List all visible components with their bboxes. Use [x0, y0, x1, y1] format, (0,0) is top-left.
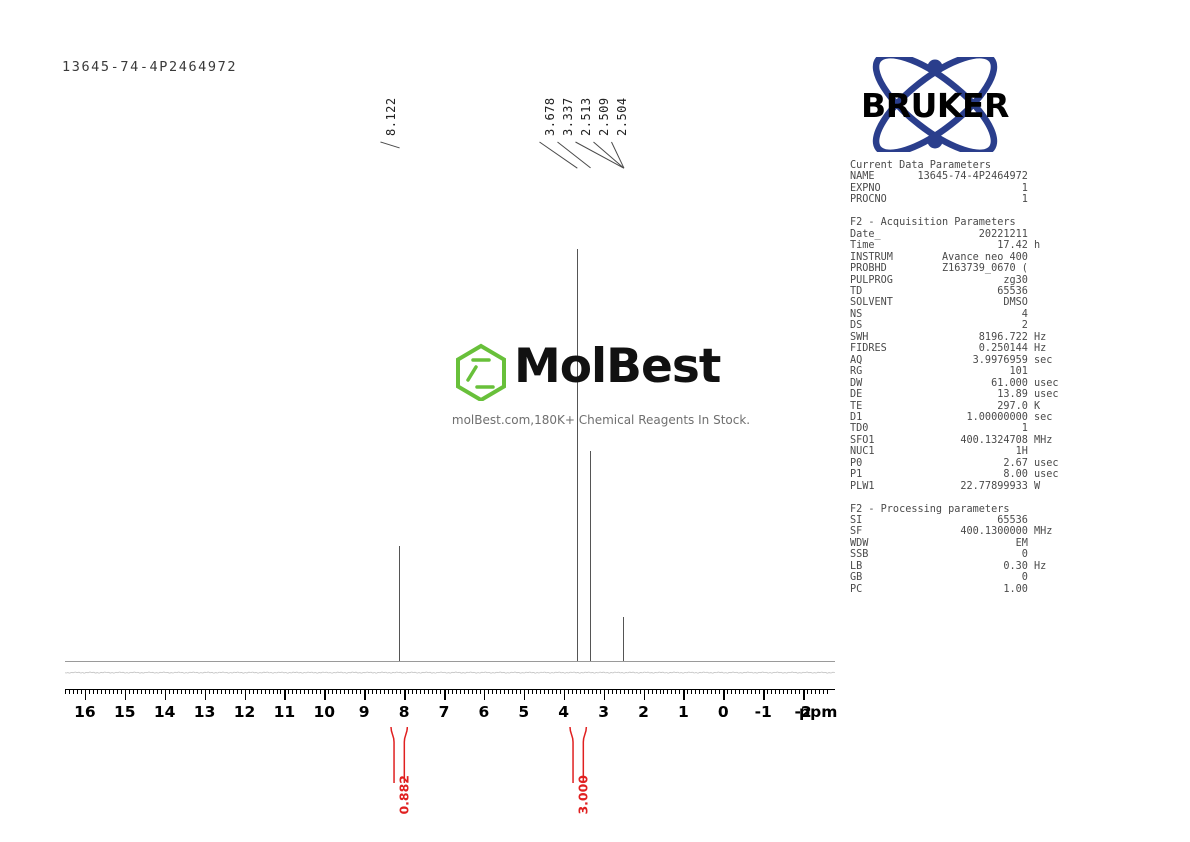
axis-minor-tick — [261, 689, 262, 694]
axis-major-tick — [683, 689, 685, 700]
parameter-row: GB 0 — [850, 572, 1055, 583]
parameter-row: P0 2.67 usec — [850, 458, 1055, 469]
axis-major-tick — [245, 689, 247, 700]
axis-minor-tick — [787, 689, 788, 694]
axis-minor-tick — [241, 689, 242, 694]
parameter-row: PLW1 22.77899933 W — [850, 481, 1055, 492]
axis-minor-tick — [476, 689, 477, 694]
axis-minor-tick — [827, 689, 828, 694]
axis-minor-tick — [73, 689, 74, 694]
parameter-row: NS 4 — [850, 309, 1055, 320]
axis-tick-label: 3 — [598, 703, 609, 721]
ppm-axis-unit-label: ppm — [799, 703, 837, 721]
axis-minor-tick — [229, 689, 230, 694]
axis-minor-tick — [185, 689, 186, 694]
axis-tick-label: 7 — [439, 703, 450, 721]
axis-minor-tick — [340, 689, 341, 694]
integral-region: 3.000 — [569, 727, 587, 783]
axis-minor-tick — [157, 689, 158, 694]
axis-major-tick — [444, 689, 446, 700]
axis-minor-tick — [496, 689, 497, 694]
axis-minor-tick — [412, 689, 413, 694]
parameter-section-heading: Current Data Parameters — [850, 160, 1055, 171]
axis-minor-tick — [169, 689, 170, 694]
parameter-row: SOLVENT DMSO — [850, 297, 1055, 308]
parameter-row: LB 0.30 Hz — [850, 561, 1055, 572]
parameter-row: SI 65536 — [850, 515, 1055, 526]
axis-tick-label: 8 — [399, 703, 410, 721]
axis-minor-tick — [237, 689, 238, 694]
axis-minor-tick — [372, 689, 373, 694]
axis-minor-tick — [727, 689, 728, 694]
axis-minor-tick — [440, 689, 441, 694]
axis-major-tick — [364, 689, 366, 700]
axis-minor-tick — [113, 689, 114, 694]
axis-tick-label: 12 — [234, 703, 256, 721]
axis-minor-tick — [452, 689, 453, 694]
axis-minor-tick — [636, 689, 637, 694]
axis-minor-tick — [133, 689, 134, 694]
axis-minor-tick — [707, 689, 708, 694]
peak-leader-line — [380, 142, 400, 149]
parameter-row: EXPNO 1 — [850, 183, 1055, 194]
axis-minor-tick — [69, 689, 70, 694]
axis-minor-tick — [620, 689, 621, 694]
axis-minor-tick — [233, 689, 234, 694]
axis-minor-tick — [448, 689, 449, 694]
axis-minor-tick — [265, 689, 266, 694]
integral-region: 0.882 — [390, 727, 408, 783]
axis-tick-label: -1 — [755, 703, 772, 721]
axis-minor-tick — [783, 689, 784, 694]
axis-major-tick — [284, 689, 286, 700]
axis-minor-tick — [101, 689, 102, 694]
axis-minor-tick — [747, 689, 748, 694]
axis-minor-tick — [273, 689, 274, 694]
axis-minor-tick — [117, 689, 118, 694]
molbest-watermark: MolBest molBest.com,180K+ Chemical Reage… — [452, 341, 752, 436]
axis-minor-tick — [656, 689, 657, 694]
axis-minor-tick — [360, 689, 361, 694]
axis-minor-tick — [795, 689, 796, 694]
axis-minor-tick — [548, 689, 549, 694]
axis-major-tick — [324, 689, 326, 700]
axis-minor-tick — [624, 689, 625, 694]
axis-minor-tick — [596, 689, 597, 694]
axis-minor-tick — [616, 689, 617, 694]
axis-minor-tick — [225, 689, 226, 694]
axis-minor-tick — [811, 689, 812, 694]
axis-minor-tick — [257, 689, 258, 694]
bruker-wordmark: BRUKER — [849, 89, 1021, 122]
axis-minor-tick — [436, 689, 437, 694]
axis-major-tick — [723, 689, 725, 700]
peak-line — [399, 546, 400, 661]
axis-major-tick — [604, 689, 606, 700]
axis-minor-tick — [376, 689, 377, 694]
parameter-row: TE 297.0 K — [850, 401, 1055, 412]
axis-minor-tick — [608, 689, 609, 694]
axis-minor-tick — [145, 689, 146, 694]
peak-shift-label: 3.337 — [561, 97, 575, 136]
axis-minor-tick — [316, 689, 317, 694]
axis-minor-tick — [217, 689, 218, 694]
parameter-row: PROBHD Z163739_0670 ( — [850, 263, 1055, 274]
axis-minor-tick — [504, 689, 505, 694]
axis-minor-tick — [221, 689, 222, 694]
peak-shift-label: 8.122 — [384, 97, 398, 136]
axis-minor-tick — [400, 689, 401, 694]
axis-minor-tick — [280, 689, 281, 694]
axis-minor-tick — [460, 689, 461, 694]
axis-minor-tick — [416, 689, 417, 694]
axis-minor-tick — [600, 689, 601, 694]
axis-minor-tick — [791, 689, 792, 694]
axis-minor-tick — [807, 689, 808, 694]
axis-minor-tick — [352, 689, 353, 694]
parameter-section-gap — [850, 206, 1055, 217]
axis-minor-tick — [344, 689, 345, 694]
parameter-row: PC 1.00 — [850, 584, 1055, 595]
axis-minor-tick — [97, 689, 98, 694]
axis-minor-tick — [584, 689, 585, 694]
axis-minor-tick — [767, 689, 768, 694]
axis-minor-tick — [253, 689, 254, 694]
axis-minor-tick — [552, 689, 553, 694]
axis-minor-tick — [516, 689, 517, 694]
axis-minor-tick — [771, 689, 772, 694]
axis-minor-tick — [65, 689, 66, 694]
axis-minor-tick — [703, 689, 704, 694]
axis-major-tick — [763, 689, 765, 700]
axis-minor-tick — [396, 689, 397, 694]
axis-minor-tick — [348, 689, 349, 694]
axis-minor-tick — [755, 689, 756, 694]
peak-line — [590, 451, 591, 661]
axis-minor-tick — [671, 689, 672, 694]
axis-minor-tick — [432, 689, 433, 694]
axis-tick-label: 9 — [359, 703, 370, 721]
molbest-tagline: molBest.com,180K+ Chemical Reagents In S… — [446, 413, 756, 427]
axis-tick-label: 16 — [74, 703, 96, 721]
parameter-row: NAME 13645-74-4P2464972 — [850, 171, 1055, 182]
axis-minor-tick — [328, 689, 329, 694]
parameter-row: Date_ 20221211 — [850, 229, 1055, 240]
axis-minor-tick — [296, 689, 297, 694]
axis-major-tick — [85, 689, 87, 700]
axis-minor-tick — [679, 689, 680, 694]
axis-minor-tick — [544, 689, 545, 694]
parameter-row: FIDRES 0.250144 Hz — [850, 343, 1055, 354]
axis-minor-tick — [320, 689, 321, 694]
axis-minor-tick — [660, 689, 661, 694]
axis-minor-tick — [715, 689, 716, 694]
axis-tick-label: 10 — [314, 703, 336, 721]
axis-minor-tick — [520, 689, 521, 694]
parameter-row: SFO1 400.1324708 MHz — [850, 435, 1055, 446]
axis-minor-tick — [181, 689, 182, 694]
axis-minor-tick — [408, 689, 409, 694]
axis-minor-tick — [492, 689, 493, 694]
axis-minor-tick — [81, 689, 82, 694]
axis-minor-tick — [751, 689, 752, 694]
axis-minor-tick — [292, 689, 293, 694]
axis-minor-tick — [392, 689, 393, 694]
axis-minor-tick — [592, 689, 593, 694]
axis-minor-tick — [304, 689, 305, 694]
peak-shift-label: 2.509 — [597, 97, 611, 136]
axis-minor-tick — [201, 689, 202, 694]
axis-minor-tick — [699, 689, 700, 694]
axis-minor-tick — [197, 689, 198, 694]
axis-tick-label: 1 — [678, 703, 689, 721]
parameter-section-gap — [850, 492, 1055, 503]
axis-minor-tick — [93, 689, 94, 694]
axis-minor-tick — [129, 689, 130, 694]
axis-minor-tick — [823, 689, 824, 694]
axis-minor-tick — [177, 689, 178, 694]
axis-minor-tick — [189, 689, 190, 694]
axis-tick-label: 11 — [274, 703, 296, 721]
axis-minor-tick — [588, 689, 589, 694]
axis-minor-tick — [580, 689, 581, 694]
axis-minor-tick — [277, 689, 278, 694]
axis-minor-tick — [675, 689, 676, 694]
axis-minor-tick — [799, 689, 800, 694]
parameter-row: PULPROG zg30 — [850, 275, 1055, 286]
axis-minor-tick — [711, 689, 712, 694]
axis-tick-label: 13 — [194, 703, 216, 721]
bruker-logo: BRUKER — [849, 57, 1021, 152]
axis-major-tick — [404, 689, 406, 700]
axis-minor-tick — [464, 689, 465, 694]
axis-tick-label: 2 — [638, 703, 649, 721]
axis-minor-tick — [384, 689, 385, 694]
parameter-row: DW 61.000 usec — [850, 378, 1055, 389]
axis-minor-tick — [149, 689, 150, 694]
axis-minor-tick — [388, 689, 389, 694]
axis-minor-tick — [652, 689, 653, 694]
axis-minor-tick — [368, 689, 369, 694]
axis-minor-tick — [648, 689, 649, 694]
axis-minor-tick — [173, 689, 174, 694]
axis-minor-tick — [269, 689, 270, 694]
spectrum-baseline — [65, 661, 835, 662]
parameter-row: TD 65536 — [850, 286, 1055, 297]
axis-minor-tick — [89, 689, 90, 694]
axis-minor-tick — [528, 689, 529, 694]
axis-minor-tick — [209, 689, 210, 694]
parameter-row: D1 1.00000000 sec — [850, 412, 1055, 423]
axis-major-tick — [564, 689, 566, 700]
parameter-row: NUC1 1H — [850, 446, 1055, 457]
axis-minor-tick — [420, 689, 421, 694]
parameter-row: P1 8.00 usec — [850, 469, 1055, 480]
peak-leader-line — [539, 142, 577, 169]
axis-minor-tick — [731, 689, 732, 694]
parameter-row: SF 400.1300000 MHz — [850, 526, 1055, 537]
axis-major-tick — [165, 689, 167, 700]
axis-minor-tick — [121, 689, 122, 694]
axis-minor-tick — [312, 689, 313, 694]
axis-minor-tick — [300, 689, 301, 694]
axis-minor-tick — [612, 689, 613, 694]
parameter-row: AQ 3.9976959 sec — [850, 355, 1055, 366]
axis-minor-tick — [472, 689, 473, 694]
axis-minor-tick — [428, 689, 429, 694]
axis-minor-tick — [249, 689, 250, 694]
axis-minor-tick — [719, 689, 720, 694]
axis-minor-tick — [640, 689, 641, 694]
molbest-brand-text: MolBest — [514, 337, 720, 397]
axis-tick-label: 15 — [114, 703, 136, 721]
axis-minor-tick — [819, 689, 820, 694]
axis-tick-label: 5 — [518, 703, 529, 721]
axis-minor-tick — [488, 689, 489, 694]
axis-minor-tick — [288, 689, 289, 694]
axis-major-tick — [484, 689, 486, 700]
axis-minor-tick — [380, 689, 381, 694]
peak-line — [623, 617, 624, 661]
axis-minor-tick — [576, 689, 577, 694]
axis-minor-tick — [424, 689, 425, 694]
axis-major-tick — [803, 689, 805, 700]
parameter-row: INSTRUM Avance neo 400 — [850, 252, 1055, 263]
parameter-row: DE 13.89 usec — [850, 389, 1055, 400]
parameter-section-heading: F2 - Processing parameters — [850, 504, 1055, 515]
axis-minor-tick — [739, 689, 740, 694]
axis-tick-label: 6 — [478, 703, 489, 721]
axis-minor-tick — [743, 689, 744, 694]
axis-minor-tick — [512, 689, 513, 694]
integral-value: 3.000 — [576, 775, 591, 815]
axis-minor-tick — [105, 689, 106, 694]
peak-shift-label: 2.504 — [615, 97, 629, 136]
axis-minor-tick — [663, 689, 664, 694]
axis-minor-tick — [480, 689, 481, 694]
acquisition-parameters-block: Current Data ParametersNAME 13645-74-4P2… — [850, 160, 1055, 595]
axis-minor-tick — [193, 689, 194, 694]
axis-minor-tick — [532, 689, 533, 694]
axis-major-tick — [524, 689, 526, 700]
axis-minor-tick — [468, 689, 469, 694]
axis-minor-tick — [779, 689, 780, 694]
axis-minor-tick — [560, 689, 561, 694]
axis-minor-tick — [687, 689, 688, 694]
axis-minor-tick — [695, 689, 696, 694]
parameter-row: SWH 8196.722 Hz — [850, 332, 1055, 343]
axis-minor-tick — [775, 689, 776, 694]
axis-minor-tick — [632, 689, 633, 694]
axis-minor-tick — [161, 689, 162, 694]
axis-minor-tick — [153, 689, 154, 694]
axis-minor-tick — [336, 689, 337, 694]
axis-minor-tick — [356, 689, 357, 694]
axis-tick-label: 0 — [718, 703, 729, 721]
axis-tick-label: 4 — [558, 703, 569, 721]
axis-minor-tick — [109, 689, 110, 694]
axis-minor-tick — [332, 689, 333, 694]
hexagon-logo-icon — [452, 343, 510, 401]
parameter-row: RG 101 — [850, 366, 1055, 377]
axis-minor-tick — [735, 689, 736, 694]
axis-minor-tick — [536, 689, 537, 694]
axis-minor-tick — [572, 689, 573, 694]
axis-major-tick — [644, 689, 646, 700]
parameter-row: TD0 1 — [850, 423, 1055, 434]
axis-minor-tick — [815, 689, 816, 694]
axis-minor-tick — [456, 689, 457, 694]
axis-minor-tick — [759, 689, 760, 694]
peak-shift-label: 2.513 — [579, 97, 593, 136]
axis-minor-tick — [556, 689, 557, 694]
axis-minor-tick — [500, 689, 501, 694]
axis-minor-tick — [540, 689, 541, 694]
parameter-row: PROCNO 1 — [850, 194, 1055, 205]
parameter-row: WDW EM — [850, 538, 1055, 549]
axis-major-tick — [125, 689, 127, 700]
axis-minor-tick — [308, 689, 309, 694]
axis-minor-tick — [137, 689, 138, 694]
parameter-row: Time 17.42 h — [850, 240, 1055, 251]
axis-minor-tick — [77, 689, 78, 694]
axis-minor-tick — [628, 689, 629, 694]
peak-shift-label: 3.678 — [543, 97, 557, 136]
axis-minor-tick — [691, 689, 692, 694]
integral-value: 0.882 — [396, 775, 411, 815]
axis-minor-tick — [213, 689, 214, 694]
axis-minor-tick — [568, 689, 569, 694]
peak-line — [577, 249, 578, 661]
axis-tick-label: 14 — [154, 703, 176, 721]
axis-major-tick — [205, 689, 207, 700]
axis-minor-tick — [667, 689, 668, 694]
parameter-row: DS 2 — [850, 320, 1055, 331]
parameter-section-heading: F2 - Acquisition Parameters — [850, 217, 1055, 228]
axis-minor-tick — [141, 689, 142, 694]
axis-minor-tick — [508, 689, 509, 694]
parameter-row: SSB 0 — [850, 549, 1055, 560]
